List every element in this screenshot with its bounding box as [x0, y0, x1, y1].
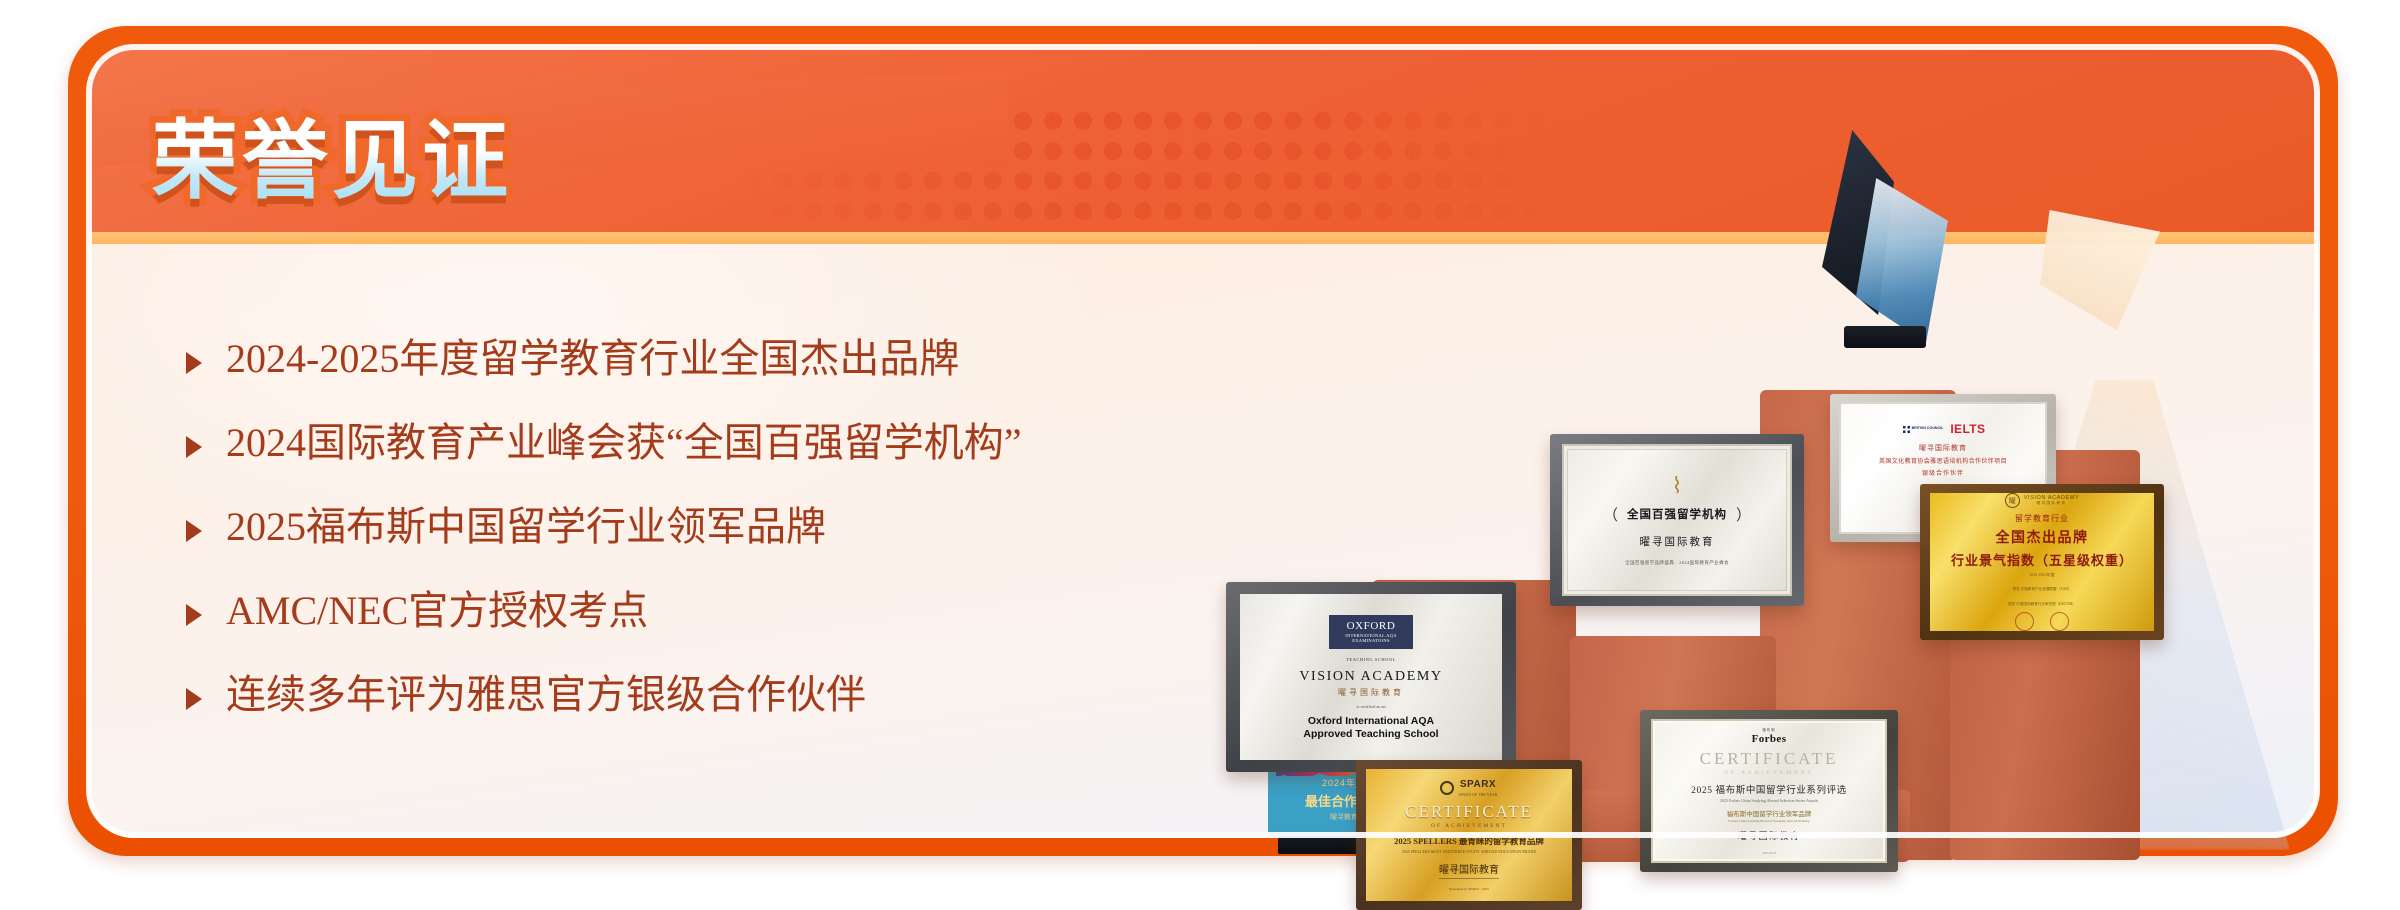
- sparx-recipient: 曜寻国际教育: [1439, 861, 1499, 879]
- forbes-date: 2025.03.18: [1762, 851, 1776, 855]
- sparx-title-en: 2025 SPELLERS MOST PREFERRED STUDY ABROA…: [1402, 849, 1537, 854]
- banner-stage: 荣誉见证 荣誉见证 2024-2025年度留学教育行业全国杰出品牌 2024国际…: [0, 0, 2400, 902]
- sparx-footer: Presented by SPARX · 2025: [1449, 887, 1489, 891]
- frame-inner-glow: [86, 44, 2320, 838]
